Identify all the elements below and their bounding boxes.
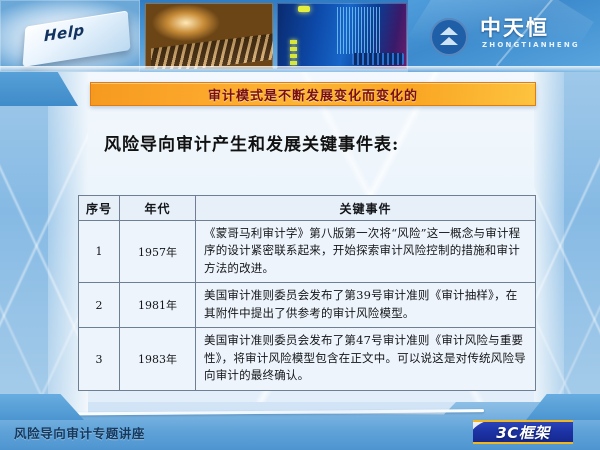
circuit-traces (337, 7, 381, 55)
row-year: 1981年 (120, 283, 196, 328)
circuit-board-photo (277, 3, 407, 69)
header-image-band: Help 中天恒 ZHONGTIANHENG (0, 0, 600, 72)
column-header-year: 年代 (120, 196, 196, 221)
keyboard-key-shape (22, 11, 130, 68)
circuit-led-top (298, 6, 310, 12)
brand-3c-logo: 3C框架 (473, 420, 573, 444)
row-year: 1983年 (120, 328, 196, 390)
table-row: 2 1981年 美国审计准则委员会发布了第39号审计准则《审计抽样》，在其附件中… (79, 283, 536, 328)
row-year: 1957年 (120, 221, 196, 283)
circuit-led-strip (290, 40, 297, 68)
footer-title: 风险导向审计专题讲座 (14, 423, 145, 442)
company-logo-panel: 中天恒 ZHONGTIANHENG (408, 0, 600, 72)
help-key-photo: Help (0, 0, 140, 72)
presentation-slide: Help 中天恒 ZHONGTIANHENG 审计模式是不断发展变化而变化的 风… (0, 0, 600, 450)
row-event: 美国审计准则委员会发布了第39号审计准则《审计抽样》，在其附件中提出了供参考的审… (196, 283, 536, 328)
company-name-cn: 中天恒 (480, 12, 549, 42)
help-key-label: Help (44, 21, 85, 45)
left-side-panel (0, 72, 88, 420)
row-no: 2 (79, 283, 120, 328)
column-header-event: 关键事件 (196, 196, 536, 221)
circuit-pin-row (352, 53, 404, 65)
page-title: 风险导向审计产生和发展关键事件表: (104, 130, 399, 155)
company-mark-icon (430, 18, 468, 56)
key-events-table: 序号 年代 关键事件 1 1957年 《蒙哥马利审计学》第八版第一次将“风险”这… (78, 195, 536, 391)
row-no: 3 (79, 328, 120, 390)
column-header-no: 序号 (79, 196, 120, 221)
slide-footer: 风险导向审计专题讲座 3C框架 (0, 402, 600, 450)
table-header-row: 序号 年代 关键事件 (79, 196, 536, 221)
laptop-keyboard-photo (145, 3, 273, 69)
right-side-panel (534, 72, 600, 420)
company-name-en: ZHONGTIANHENG (482, 41, 580, 49)
banner-title: 审计模式是不断发展变化而变化的 (208, 85, 418, 104)
row-event: 美国审计准则委员会发布了第47号审计准则《审计风险与重要性》，将审计风险模型包含… (196, 328, 536, 390)
slide-banner: 审计模式是不断发展变化而变化的 (90, 82, 536, 106)
row-event: 《蒙哥马利审计学》第八版第一次将“风险”这一概念与审计程序的设计紧密联系起来，开… (196, 221, 536, 283)
keyboard-texture (151, 34, 273, 69)
brand-3c-label: 3C框架 (496, 422, 549, 443)
table-row: 1 1957年 《蒙哥马利审计学》第八版第一次将“风险”这一概念与审计程序的设计… (79, 221, 536, 283)
row-no: 1 (79, 221, 120, 283)
table-row: 3 1983年 美国审计准则委员会发布了第47号审计准则《审计风险与重要性》，将… (79, 328, 536, 390)
